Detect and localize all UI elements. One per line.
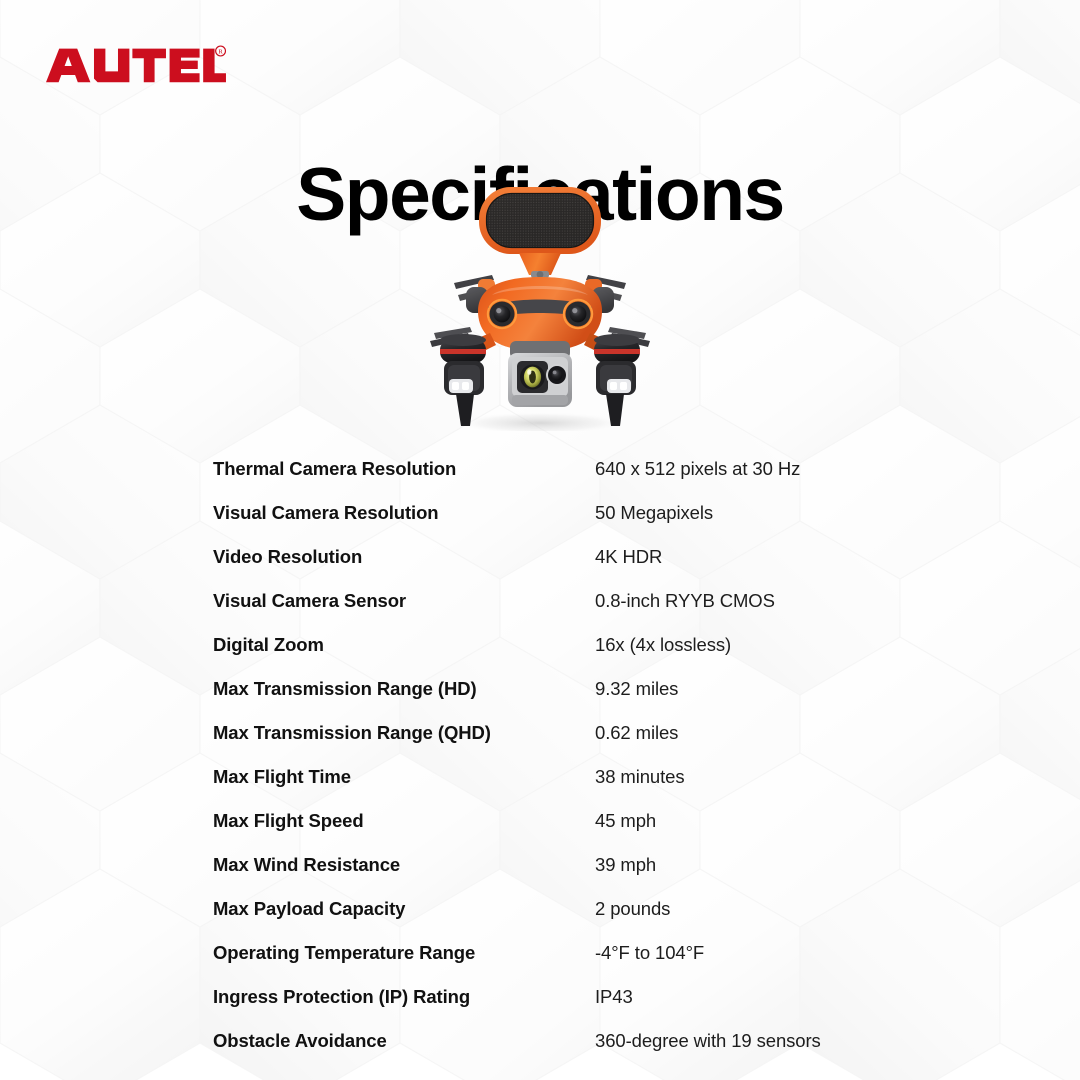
drone-motor-right <box>594 327 650 426</box>
spec-value: IP43 <box>595 986 633 1008</box>
spec-value: 360-degree with 19 sensors <box>595 1030 821 1052</box>
autel-logo: R <box>46 45 226 89</box>
spec-value: 0.62 miles <box>595 722 678 744</box>
table-row: Max Payload Capacity 2 pounds <box>213 887 953 931</box>
drone-product-image <box>418 183 662 431</box>
spec-value: 640 x 512 pixels at 30 Hz <box>595 458 800 480</box>
svg-text:R: R <box>218 49 223 56</box>
spec-label: Operating Temperature Range <box>213 942 595 964</box>
spec-value: -4°F to 104°F <box>595 942 704 964</box>
table-row: Visual Camera Resolution 50 Megapixels <box>213 491 953 535</box>
spec-value: 38 minutes <box>595 766 685 788</box>
table-row: Video Resolution 4K HDR <box>213 535 953 579</box>
table-row: Ingress Protection (IP) Rating IP43 <box>213 975 953 1019</box>
spec-label: Max Flight Time <box>213 766 595 788</box>
spec-label: Max Flight Speed <box>213 810 595 832</box>
table-row: Max Flight Time 38 minutes <box>213 755 953 799</box>
spec-value: 2 pounds <box>595 898 670 920</box>
table-row: Visual Camera Sensor 0.8-inch RYYB CMOS <box>213 579 953 623</box>
registered-trademark-icon: R <box>216 46 226 56</box>
spec-label: Max Transmission Range (QHD) <box>213 722 595 744</box>
spec-label: Thermal Camera Resolution <box>213 458 595 480</box>
spec-label: Video Resolution <box>213 546 595 568</box>
spec-value: 9.32 miles <box>595 678 678 700</box>
spec-value: 39 mph <box>595 854 656 876</box>
table-row: Max Transmission Range (HD) 9.32 miles <box>213 667 953 711</box>
table-row: Obstacle Avoidance 360-degree with 19 se… <box>213 1019 953 1063</box>
spec-value: 4K HDR <box>595 546 662 568</box>
table-row: Digital Zoom 16x (4x lossless) <box>213 623 953 667</box>
drone-antenna-panel <box>479 187 601 278</box>
specifications-table: Thermal Camera Resolution 640 x 512 pixe… <box>213 447 953 1063</box>
autel-wordmark-glyphs <box>46 49 226 83</box>
specifications-page: R Specifications <box>0 0 1080 1080</box>
spec-value: 16x (4x lossless) <box>595 634 731 656</box>
table-row: Operating Temperature Range -4°F to 104°… <box>213 931 953 975</box>
table-row: Max Transmission Range (QHD) 0.62 miles <box>213 711 953 755</box>
spec-label: Ingress Protection (IP) Rating <box>213 986 595 1008</box>
table-row: Thermal Camera Resolution 640 x 512 pixe… <box>213 447 953 491</box>
spec-value: 0.8-inch RYYB CMOS <box>595 590 775 612</box>
table-row: Max Flight Speed 45 mph <box>213 799 953 843</box>
spec-label: Max Wind Resistance <box>213 854 595 876</box>
spec-label: Visual Camera Resolution <box>213 502 595 524</box>
table-row: Max Wind Resistance 39 mph <box>213 843 953 887</box>
spec-label: Obstacle Avoidance <box>213 1030 595 1052</box>
drone-gimbal-camera <box>508 341 572 407</box>
spec-value: 50 Megapixels <box>595 502 713 524</box>
drone-shadow <box>454 412 626 431</box>
drone-motor-left <box>430 327 486 426</box>
spec-label: Digital Zoom <box>213 634 595 656</box>
spec-label: Max Payload Capacity <box>213 898 595 920</box>
spec-value: 45 mph <box>595 810 656 832</box>
spec-label: Visual Camera Sensor <box>213 590 595 612</box>
spec-label: Max Transmission Range (HD) <box>213 678 595 700</box>
